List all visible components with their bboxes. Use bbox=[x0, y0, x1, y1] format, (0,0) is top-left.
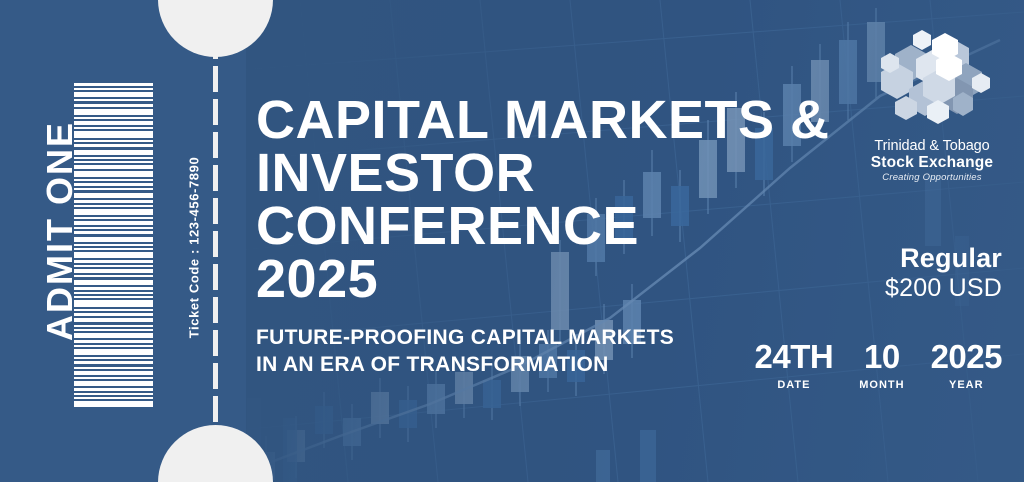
price-block: Regular $200 USD bbox=[885, 243, 1002, 304]
title-line-3: CONFERENCE bbox=[256, 200, 856, 253]
date-cell-month: 10 MONTH bbox=[859, 340, 904, 391]
date-cell-year: 2025 YEAR bbox=[931, 340, 1002, 391]
price-amount: $200 USD bbox=[885, 273, 1002, 304]
date-year-label: YEAR bbox=[931, 379, 1002, 391]
subtitle-line-2: IN AN ERA OF TRANSFORMATION bbox=[256, 352, 716, 379]
ticket-stub: ADMIT ONE Ticket Code : 123-456-7890 bbox=[0, 0, 216, 482]
organizer-logo: Trinidad & Tobago Stock Exchange Creatin… bbox=[862, 26, 1002, 184]
date-day-label: DATE bbox=[755, 379, 834, 391]
date-month-label: MONTH bbox=[859, 379, 904, 391]
date-year-value: 2025 bbox=[931, 340, 1002, 373]
event-subtitle: FUTURE-PROOFING CAPITAL MARKETS IN AN ER… bbox=[256, 325, 716, 379]
logo-tagline: Creating Opportunities bbox=[862, 172, 1002, 185]
price-tier: Regular bbox=[885, 243, 1002, 273]
date-day-value: 24TH bbox=[755, 340, 834, 373]
event-ticket: ADMIT ONE Ticket Code : 123-456-7890 bbox=[0, 0, 1024, 482]
perforation-line bbox=[213, 0, 218, 482]
barcode[interactable] bbox=[74, 83, 153, 408]
subtitle-line-1: FUTURE-PROOFING CAPITAL MARKETS bbox=[256, 325, 716, 352]
logo-line-1: Trinidad & Tobago bbox=[862, 138, 1002, 154]
logo-line-2: Stock Exchange bbox=[862, 154, 1002, 171]
ticket-code-label: Ticket Code : 123-456-7890 bbox=[187, 138, 202, 358]
hexagon-cluster-icon bbox=[862, 26, 1002, 138]
title-line-4: 2025 bbox=[256, 253, 856, 306]
event-date: 24TH DATE 10 MONTH 2025 YEAR bbox=[755, 340, 1002, 391]
title-line-1: CAPITAL MARKETS & bbox=[256, 94, 856, 147]
title-line-2: INVESTOR bbox=[256, 147, 856, 200]
date-cell-day: 24TH DATE bbox=[755, 340, 834, 391]
page-title: CAPITAL MARKETS & INVESTOR CONFERENCE 20… bbox=[256, 94, 856, 306]
date-month-value: 10 bbox=[859, 340, 904, 373]
